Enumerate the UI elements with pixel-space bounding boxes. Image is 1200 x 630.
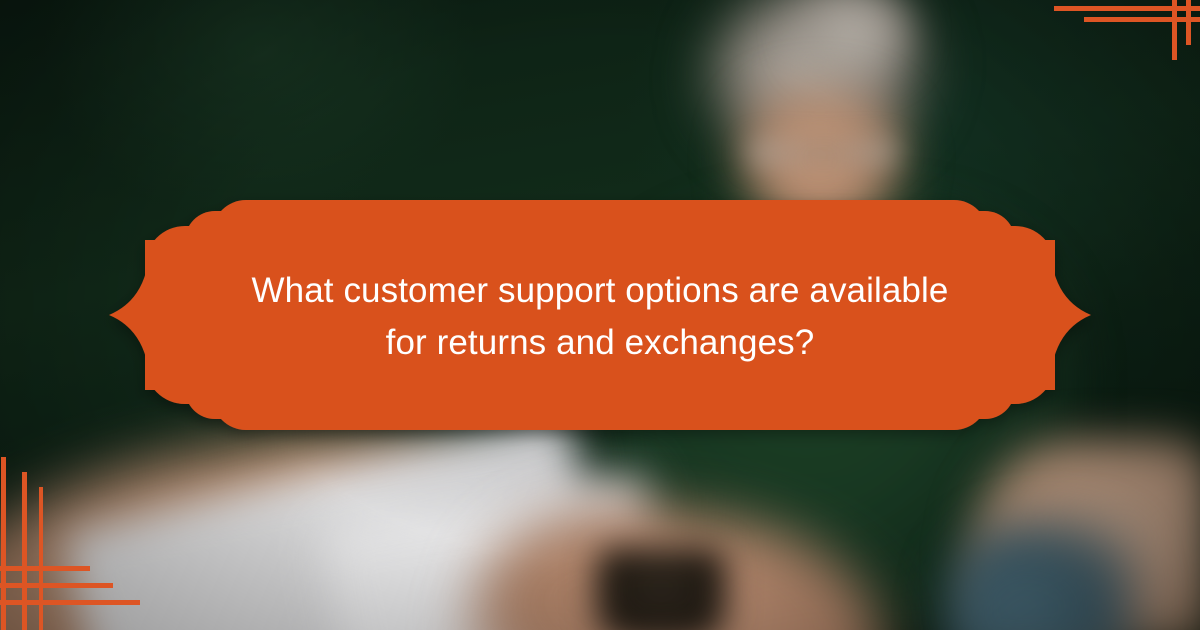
badge-spike-left — [109, 240, 150, 390]
social-card-canvas: What customer support options are availa… — [0, 0, 1200, 630]
question-text-block: What customer support options are availa… — [150, 265, 1050, 369]
question-line-2: for returns and exchanges? — [150, 317, 1050, 369]
question-badge: What customer support options are availa… — [0, 0, 1200, 630]
badge-spike-right — [1050, 240, 1091, 390]
question-line-1: What customer support options are availa… — [150, 265, 1050, 317]
